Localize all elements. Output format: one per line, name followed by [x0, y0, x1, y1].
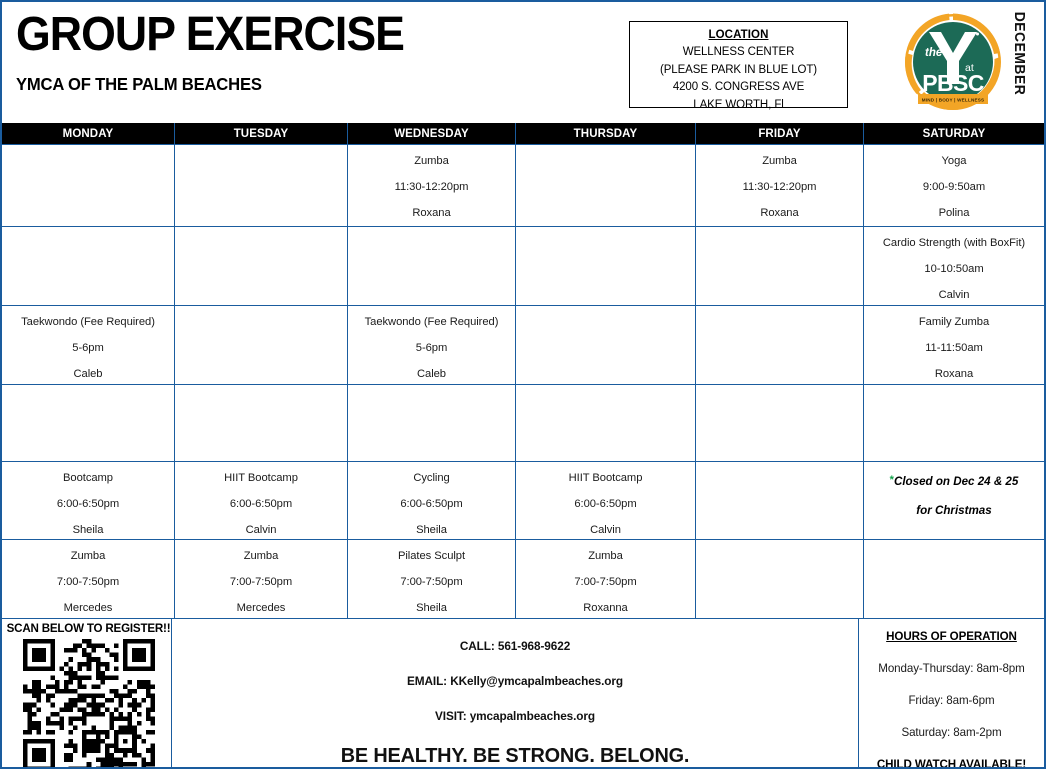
class-slot: Bootcamp6:00-6:50pmSheila	[2, 462, 174, 539]
empty-slot	[347, 385, 515, 461]
qr-panel: SCAN BELOW TO REGISTER!!	[2, 619, 172, 769]
empty-slot	[174, 227, 347, 305]
empty-slot	[515, 306, 695, 384]
asterisk-icon: *	[890, 474, 894, 486]
empty-slot	[174, 306, 347, 384]
group-exercise-flyer: GROUP EXERCISE YMCA OF THE PALM BEACHES …	[0, 0, 1046, 769]
class-name: Bootcamp	[2, 473, 174, 484]
class-instructor: Caleb	[348, 369, 515, 380]
child-watch-badge: CHILD WATCH AVAILABLE!	[859, 758, 1044, 769]
empty-slot	[515, 385, 695, 461]
day-header-monday: MONDAY	[2, 123, 174, 144]
class-slot: Zumba7:00-7:50pmMercedes	[2, 540, 174, 618]
hours-line-saturday: Saturday: 8am-2pm	[859, 726, 1044, 739]
class-slot: Cardio Strength (with BoxFit)10-10:50amC…	[863, 227, 1044, 305]
location-line-2: (PLEASE PARK IN BLUE LOT)	[630, 62, 847, 79]
class-time: 7:00-7:50pm	[175, 577, 347, 588]
class-time: 11:30-12:20pm	[696, 182, 863, 193]
empty-slot	[695, 462, 863, 539]
empty-slot	[174, 385, 347, 461]
class-time: 10-10:50am	[864, 264, 1044, 275]
day-header-friday: FRIDAY	[695, 123, 863, 144]
empty-slot	[863, 540, 1044, 618]
class-slot: Zumba11:30-12:20pmRoxana	[695, 145, 863, 226]
qr-code-icon[interactable]	[23, 639, 155, 769]
empty-slot	[515, 145, 695, 226]
schedule-row	[2, 385, 1044, 462]
class-slot: Taekwondo (Fee Required)5-6pmCaleb	[347, 306, 515, 384]
class-name: Zumba	[175, 551, 347, 562]
class-instructor: Roxanna	[516, 603, 695, 614]
class-slot: HIIT Bootcamp6:00-6:50pmCalvin	[174, 462, 347, 539]
title-block: GROUP EXERCISE YMCA OF THE PALM BEACHES	[16, 10, 616, 95]
class-instructor: Polina	[864, 208, 1044, 219]
class-slot: Yoga9:00-9:50amPolina	[863, 145, 1044, 226]
contact-panel: CALL: 561-968-9622 EMAIL: KKelly@ymcapal…	[172, 619, 859, 769]
class-time: 6:00-6:50pm	[516, 499, 695, 510]
empty-slot	[174, 145, 347, 226]
closure-note: *Closed on Dec 24 & 25for Christmas	[863, 462, 1044, 539]
location-line-1: WELLNESS CENTER	[630, 44, 847, 61]
class-time: 5-6pm	[2, 343, 174, 354]
class-slot: Pilates Sculpt7:00-7:50pmSheila	[347, 540, 515, 618]
contact-website[interactable]: VISIT: ymcapalmbeaches.org	[172, 709, 858, 723]
class-slot: Zumba7:00-7:50pmMercedes	[174, 540, 347, 618]
schedule-row: Cardio Strength (with BoxFit)10-10:50amC…	[2, 227, 1044, 306]
month-label: DECEMBER	[1006, 10, 1032, 114]
location-line-3: 4200 S. CONGRESS AVE	[630, 79, 847, 96]
ymca-pbsc-logo-icon: the at PBSC MIND | BODY | WELLNESS	[903, 9, 1003, 115]
class-name: HIIT Bootcamp	[516, 473, 695, 484]
day-header-tuesday: TUESDAY	[174, 123, 347, 144]
schedule-row: Zumba7:00-7:50pmMercedesZumba7:00-7:50pm…	[2, 540, 1044, 619]
flyer-header: GROUP EXERCISE YMCA OF THE PALM BEACHES …	[2, 2, 1044, 123]
class-instructor: Sheila	[2, 525, 174, 536]
flyer-footer: SCAN BELOW TO REGISTER!! CALL: 561-968-9…	[2, 619, 1044, 769]
class-name: Zumba	[516, 551, 695, 562]
slogan: BE HEALTHY. BE STRONG. BELONG.	[182, 744, 847, 768]
class-instructor: Calvin	[864, 290, 1044, 301]
class-instructor: Sheila	[348, 525, 515, 536]
empty-slot	[695, 227, 863, 305]
class-name: Family Zumba	[864, 317, 1044, 328]
day-header-thursday: THURSDAY	[515, 123, 695, 144]
hours-line-friday: Friday: 8am-6pm	[859, 694, 1044, 707]
schedule-row: Taekwondo (Fee Required)5-6pmCalebTaekwo…	[2, 306, 1044, 385]
location-line-4: LAKE WORTH, Fl	[630, 97, 847, 114]
class-name: Zumba	[696, 156, 863, 167]
svg-text:MIND | BODY | WELLNESS: MIND | BODY | WELLNESS	[922, 98, 985, 103]
empty-slot	[2, 227, 174, 305]
class-name: Taekwondo (Fee Required)	[2, 317, 174, 328]
empty-slot	[695, 540, 863, 618]
class-name: Cycling	[348, 473, 515, 484]
class-time: 9:00-9:50am	[864, 182, 1044, 193]
class-instructor: Calvin	[175, 525, 347, 536]
ymca-pbsc-logo: the at PBSC MIND | BODY | WELLNESS	[903, 9, 1003, 115]
class-instructor: Sheila	[348, 603, 515, 614]
class-name: Zumba	[348, 156, 515, 167]
empty-slot	[347, 227, 515, 305]
class-name: Zumba	[2, 551, 174, 562]
class-instructor: Caleb	[2, 369, 174, 380]
class-time: 6:00-6:50pm	[2, 499, 174, 510]
class-instructor: Mercedes	[2, 603, 174, 614]
class-instructor: Calvin	[516, 525, 695, 536]
empty-slot	[2, 385, 174, 461]
location-box: LOCATION WELLNESS CENTER (PLEASE PARK IN…	[629, 21, 848, 108]
day-header-wednesday: WEDNESDAY	[347, 123, 515, 144]
hours-line-weekday: Monday-Thursday: 8am-8pm	[859, 662, 1044, 675]
class-time: 11:30-12:20pm	[348, 182, 515, 193]
schedule-row: Bootcamp6:00-6:50pmSheilaHIIT Bootcamp6:…	[2, 462, 1044, 540]
qr-caption: SCAN BELOW TO REGISTER!!	[6, 622, 171, 635]
svg-text:PBSC: PBSC	[922, 70, 984, 96]
svg-text:the: the	[925, 47, 943, 59]
closure-note-line-1: *Closed on Dec 24 & 25	[864, 475, 1044, 488]
class-name: HIIT Bootcamp	[175, 473, 347, 484]
empty-slot	[2, 145, 174, 226]
class-slot: Taekwondo (Fee Required)5-6pmCaleb	[2, 306, 174, 384]
location-heading: LOCATION	[630, 27, 847, 44]
empty-slot	[863, 385, 1044, 461]
class-slot: Cycling6:00-6:50pmSheila	[347, 462, 515, 539]
hours-panel: HOURS OF OPERATION Monday-Thursday: 8am-…	[859, 619, 1044, 769]
hours-heading: HOURS OF OPERATION	[859, 630, 1044, 643]
class-instructor: Roxana	[864, 369, 1044, 380]
class-time: 6:00-6:50pm	[348, 499, 515, 510]
page-title: GROUP EXERCISE	[16, 10, 574, 60]
class-name: Taekwondo (Fee Required)	[348, 317, 515, 328]
class-name: Yoga	[864, 156, 1044, 167]
closure-note-line-2: for Christmas	[864, 505, 1044, 517]
class-time: 7:00-7:50pm	[2, 577, 174, 588]
schedule-grid: Zumba11:30-12:20pmRoxanaZumba11:30-12:20…	[2, 144, 1044, 619]
empty-slot	[695, 385, 863, 461]
class-time: 7:00-7:50pm	[348, 577, 515, 588]
empty-slot	[695, 306, 863, 384]
class-instructor: Roxana	[348, 208, 515, 219]
class-time: 11-11:50am	[864, 343, 1044, 354]
class-time: 5-6pm	[348, 343, 515, 354]
class-time: 6:00-6:50pm	[175, 499, 347, 510]
month-label-text: DECEMBER	[1011, 12, 1027, 96]
contact-phone[interactable]: CALL: 561-968-9622	[172, 639, 858, 653]
class-slot: Zumba7:00-7:50pmRoxanna	[515, 540, 695, 618]
empty-slot	[515, 227, 695, 305]
class-slot: Zumba11:30-12:20pmRoxana	[347, 145, 515, 226]
schedule-row: Zumba11:30-12:20pmRoxanaZumba11:30-12:20…	[2, 145, 1044, 227]
contact-email[interactable]: EMAIL: KKelly@ymcapalmbeaches.org	[172, 674, 858, 688]
class-name: Pilates Sculpt	[348, 551, 515, 562]
day-header-saturday: SATURDAY	[863, 123, 1044, 144]
class-slot: HIIT Bootcamp6:00-6:50pmCalvin	[515, 462, 695, 539]
class-instructor: Mercedes	[175, 603, 347, 614]
class-instructor: Roxana	[696, 208, 863, 219]
class-name: Cardio Strength (with BoxFit)	[864, 238, 1044, 249]
page-subtitle: YMCA OF THE PALM BEACHES	[16, 74, 586, 95]
class-time: 7:00-7:50pm	[516, 577, 695, 588]
day-header-bar: MONDAYTUESDAYWEDNESDAYTHURSDAYFRIDAYSATU…	[2, 123, 1044, 144]
class-slot: Family Zumba11-11:50amRoxana	[863, 306, 1044, 384]
